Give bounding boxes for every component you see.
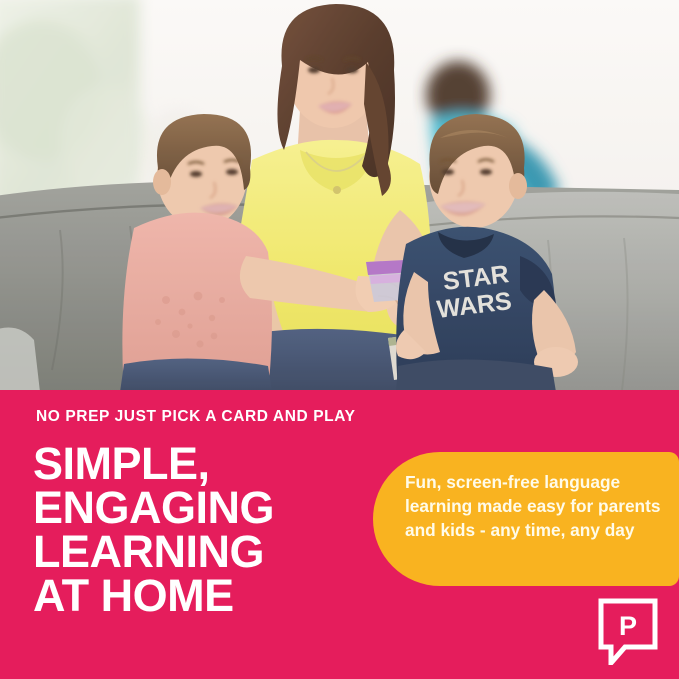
- ad-creative: STAR WARS NO PREP JUST PICK A CARD AND P…: [0, 0, 679, 679]
- headline-line-2: ENGAGING: [33, 486, 274, 530]
- pink-message-band: NO PREP JUST PICK A CARD AND PLAY SIMPLE…: [0, 390, 679, 679]
- yellow-callout-box: Fun, screen-free language learning made …: [373, 452, 679, 586]
- headline-line-1: SIMPLE,: [33, 442, 274, 486]
- kicker-text: NO PREP JUST PICK A CARD AND PLAY: [36, 408, 356, 426]
- logo-letter: P: [619, 611, 637, 641]
- headline-line-4: AT HOME: [33, 574, 274, 618]
- brand-logo: P: [597, 597, 659, 665]
- lifestyle-photo: STAR WARS: [0, 0, 679, 392]
- page-title: SIMPLE, ENGAGING LEARNING AT HOME: [33, 442, 274, 618]
- callout-text: Fun, screen-free language learning made …: [405, 470, 673, 542]
- headline-line-3: LEARNING: [33, 530, 274, 574]
